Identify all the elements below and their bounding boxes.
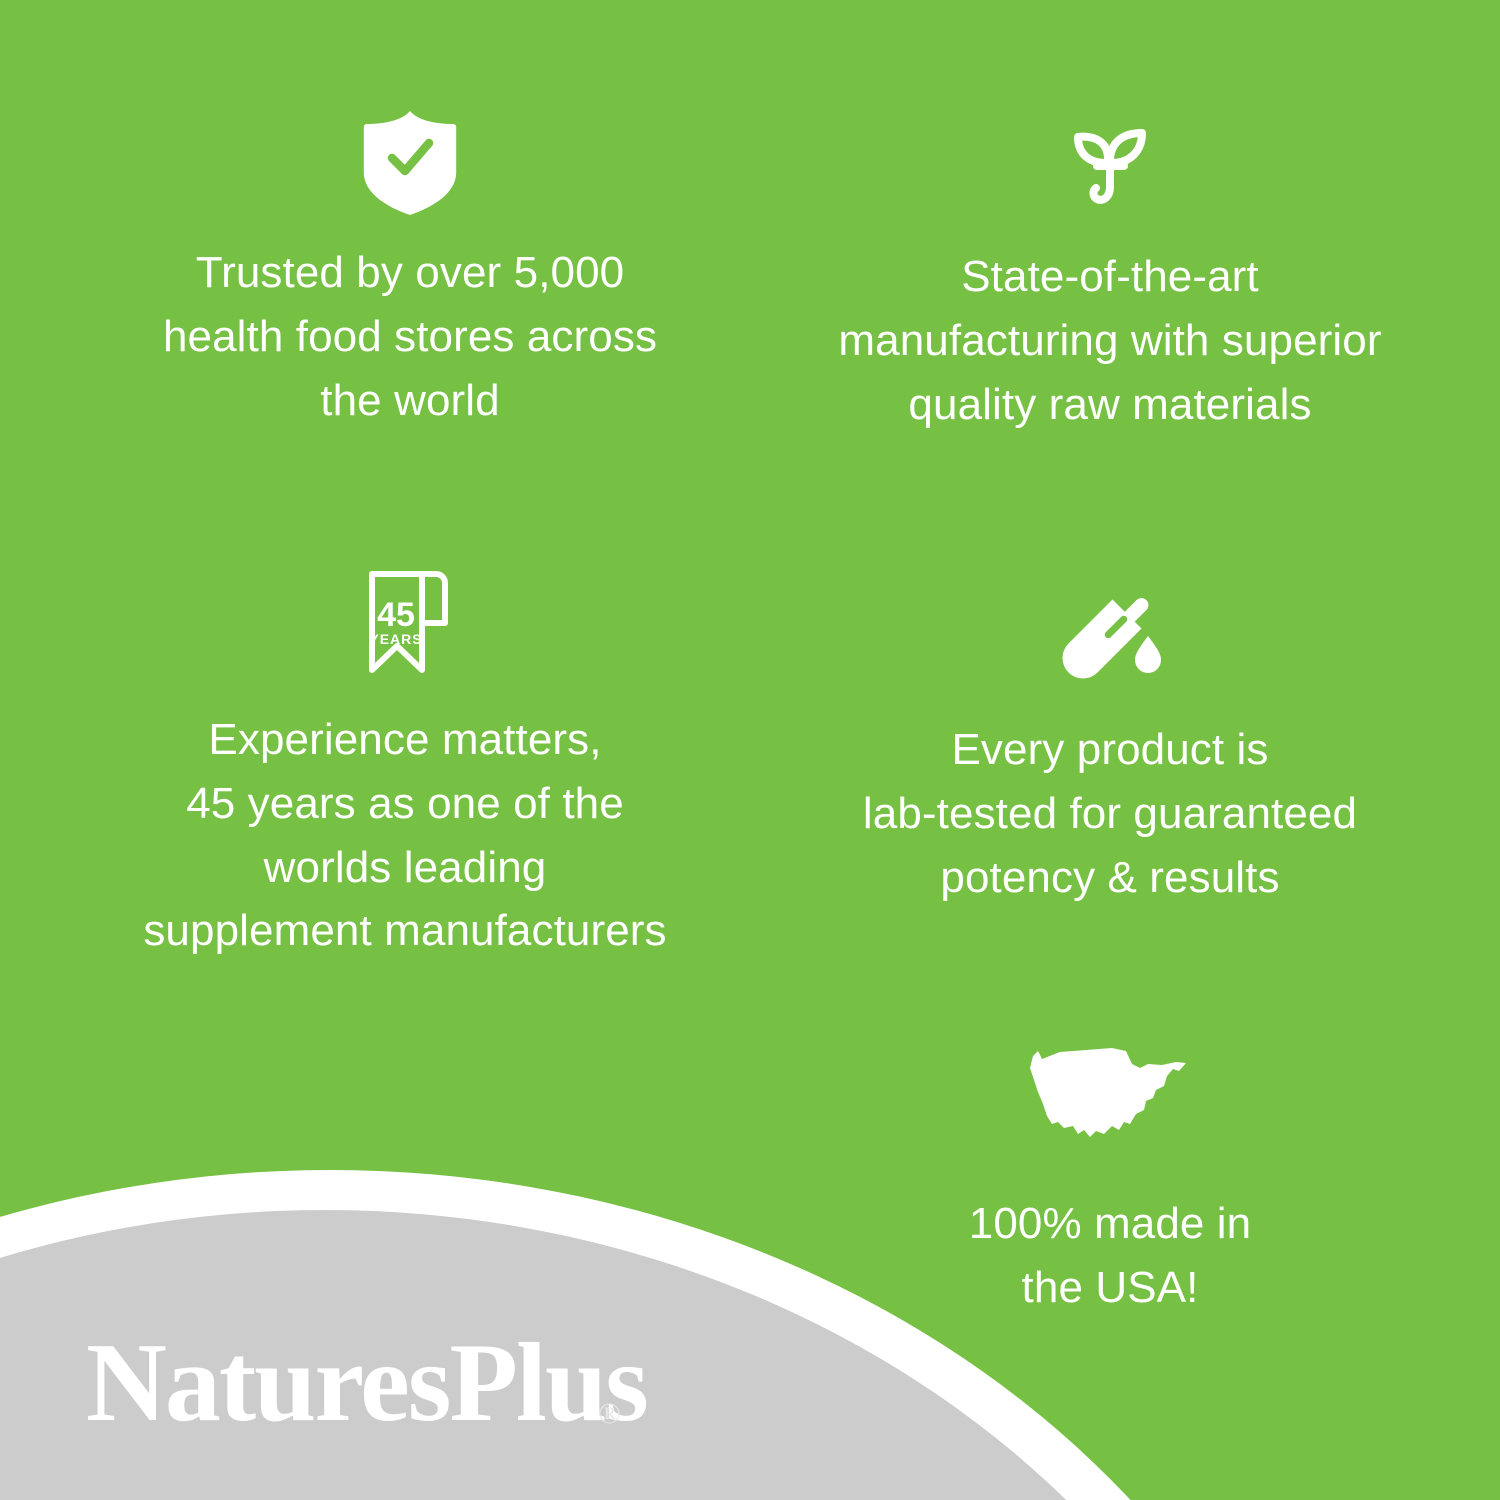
ribbon-caption: YEARS — [369, 631, 422, 647]
sprout-icon — [1058, 111, 1162, 215]
feature-made-in-usa-text: 100% made in the USA! — [760, 1192, 1460, 1320]
feature-manufacturing-text: State-of-the-art manufacturing with supe… — [760, 245, 1460, 436]
ribbon-number: 45 — [377, 596, 415, 634]
feature-experience-text: Experience matters, 45 years as one of t… — [55, 708, 755, 963]
feature-lab-tested: Every product is lab-tested for guarante… — [760, 580, 1460, 909]
feature-grid: Trusted by over 5,000 health food stores… — [0, 0, 1500, 1500]
feature-manufacturing: State-of-the-art manufacturing with supe… — [760, 105, 1460, 436]
feature-made-in-usa: 100% made in the USA! — [760, 1030, 1460, 1320]
feature-trusted-text: Trusted by over 5,000 health food stores… — [60, 241, 760, 432]
feature-experience: 45 YEARS Experience matters, 45 years as… — [55, 560, 755, 963]
brand-logo: NaturesPlus ® — [86, 1328, 706, 1448]
feature-lab-tested-text: Every product is lab-tested for guarante… — [760, 718, 1460, 909]
usa-map-icon — [1016, 1038, 1204, 1150]
icon-container: 45 YEARS — [55, 560, 755, 680]
feature-trusted: Trusted by over 5,000 health food stores… — [60, 105, 760, 432]
icon-container — [760, 105, 1460, 215]
shield-check-icon — [362, 111, 458, 215]
test-tube-drop-icon — [1055, 586, 1165, 690]
brand-logo-text: NaturesPlus — [86, 1328, 647, 1445]
45-years-ribbon-icon: 45 YEARS — [349, 562, 461, 680]
icon-container — [760, 1030, 1460, 1150]
icon-container — [760, 580, 1460, 690]
brand-logo-trademark: ® — [598, 1397, 621, 1430]
promo-banner: Trusted by over 5,000 health food stores… — [0, 0, 1500, 1500]
icon-container — [60, 105, 760, 215]
